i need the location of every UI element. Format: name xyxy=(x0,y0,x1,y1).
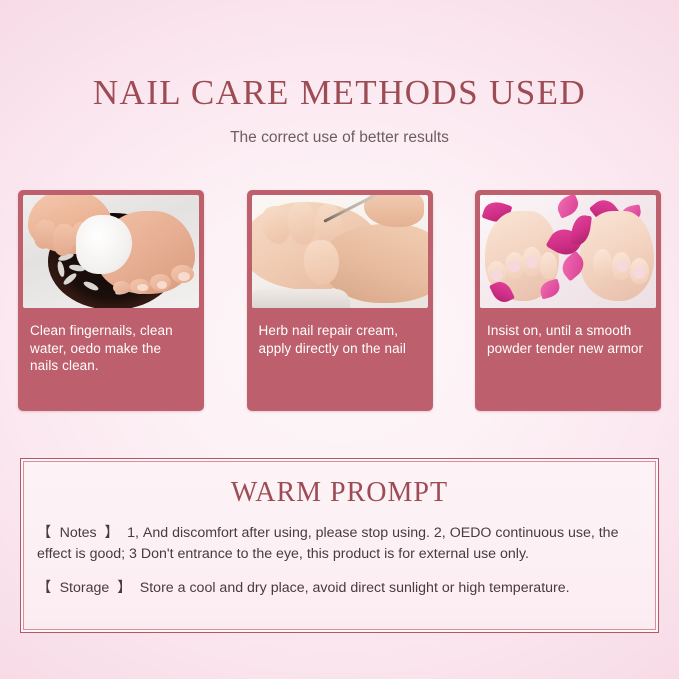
toenail-shape xyxy=(137,284,148,291)
notes-paragraph: 【 Notes 】 1, And discomfort after using,… xyxy=(35,523,644,565)
toenail-shape xyxy=(616,261,628,272)
toenail-shape xyxy=(633,267,645,278)
notes-label: Notes xyxy=(60,525,97,541)
card-caption: Clean fingernails, clean water, oedo mak… xyxy=(20,308,202,409)
card-caption: Insist on, until a smooth powder tender … xyxy=(477,308,659,409)
method-card-3: Insist on, until a smooth powder tender … xyxy=(475,190,661,411)
infographic-page: NAIL CARE METHODS USED The correct use o… xyxy=(0,0,679,679)
method-card-list: Clean fingernails, clean water, oedo mak… xyxy=(18,190,661,411)
header: NAIL CARE METHODS USED The correct use o… xyxy=(0,72,679,148)
toenail-shape xyxy=(157,281,168,289)
towel-shape xyxy=(252,289,351,308)
storage-label: Storage xyxy=(60,580,110,596)
card-caption: Herb nail repair cream, apply directly o… xyxy=(249,308,431,409)
method-card-1: Clean fingernails, clean water, oedo mak… xyxy=(18,190,204,411)
notes-text: 1, And discomfort after using, please st… xyxy=(37,525,618,562)
page-title: NAIL CARE METHODS USED xyxy=(0,72,679,114)
bracket-open: 【 xyxy=(37,525,52,541)
card-photo-smooth-nails xyxy=(480,195,656,308)
thumb-shape-top xyxy=(364,195,424,227)
bracket-open: 【 xyxy=(37,580,52,596)
storage-text: Store a cool and dry place, avoid direct… xyxy=(140,580,570,596)
warm-prompt-title: WARM PROMPT xyxy=(35,475,644,511)
method-card-2: Herb nail repair cream, apply directly o… xyxy=(247,190,433,411)
card-photo-apply-cream xyxy=(252,195,428,308)
toenail-shape xyxy=(491,270,503,281)
toe-shape xyxy=(593,249,612,277)
toe-shape xyxy=(540,252,558,279)
card-photo-foot-soak xyxy=(23,195,199,308)
warm-prompt-box: WARM PROMPT 【 Notes 】 1, And discomfort … xyxy=(20,458,659,633)
page-subtitle: The correct use of better results xyxy=(0,128,679,148)
storage-paragraph: 【 Storage 】 Store a cool and dry place, … xyxy=(35,578,644,599)
bracket-close: 】 xyxy=(117,580,132,596)
toenail-shape xyxy=(178,272,190,281)
bracket-close: 】 xyxy=(105,525,120,541)
